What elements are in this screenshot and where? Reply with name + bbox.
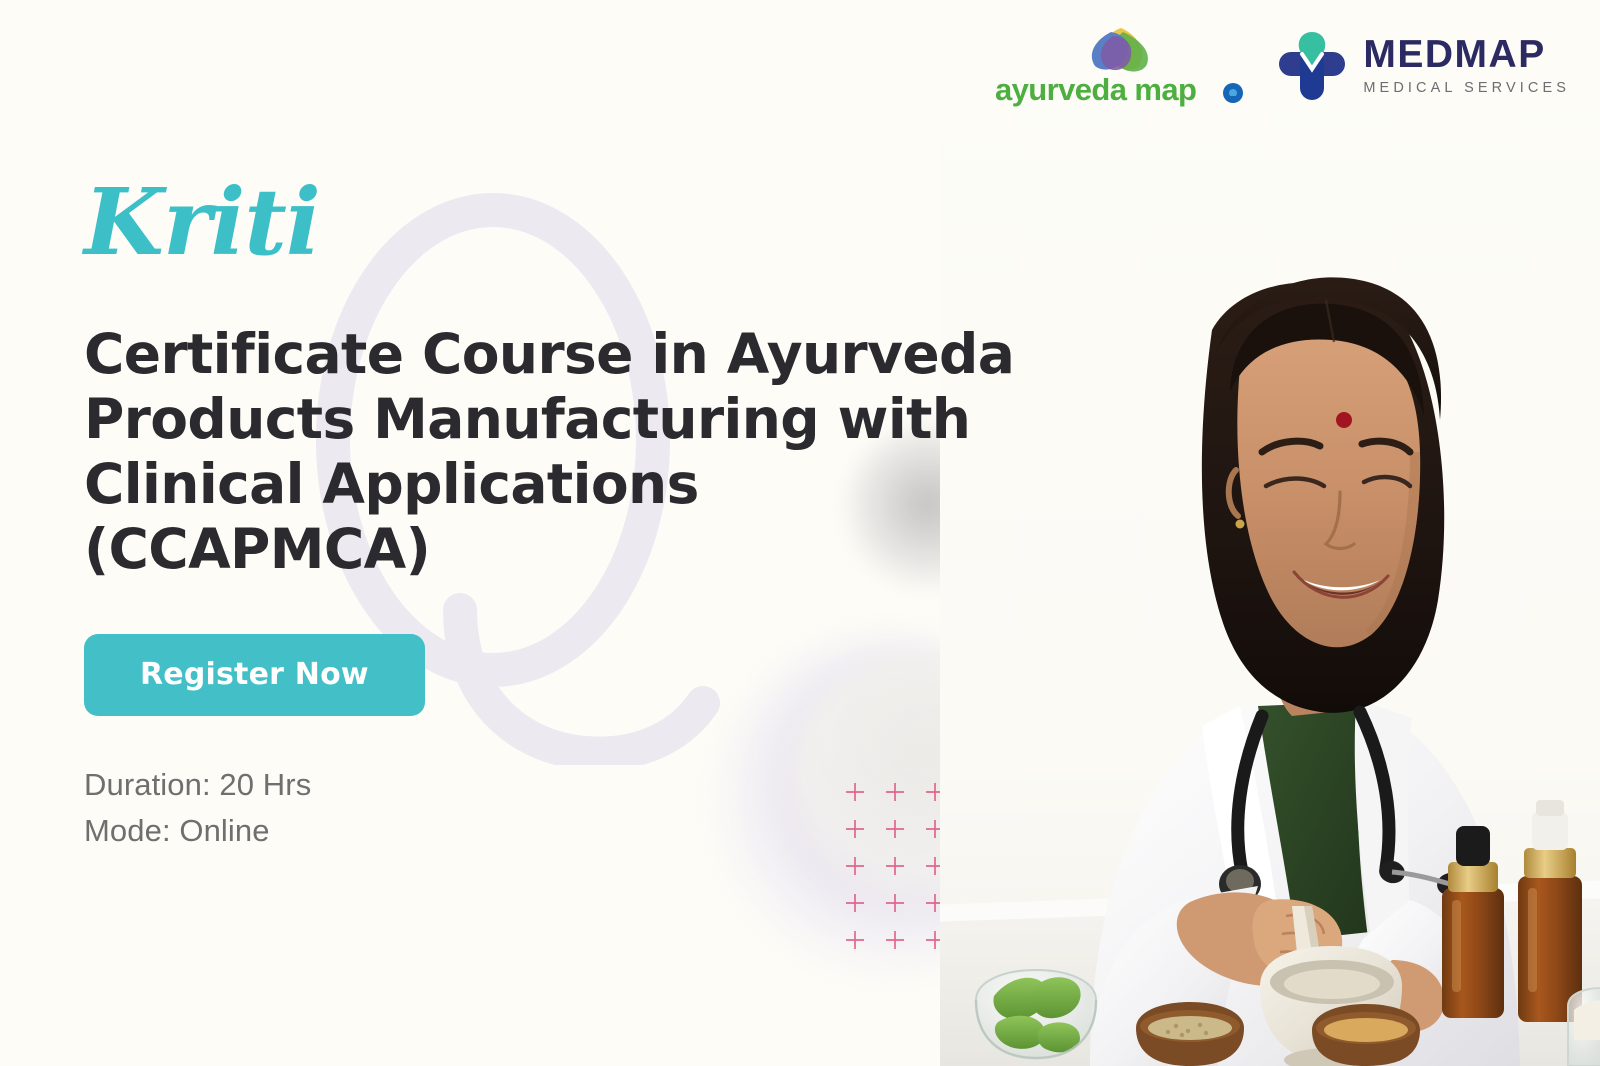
page-title: Certificate Course in Ayurveda Products … [84, 322, 1029, 582]
register-now-button[interactable]: Register Now [84, 634, 425, 716]
ayurveda-map-logo[interactable]: ayurveda map [995, 22, 1249, 108]
promo-banner: ayurveda map MEDMAP MEDICAL SERVICES Kri… [0, 0, 1600, 1066]
medmap-subtitle: MEDICAL SERVICES [1363, 81, 1570, 96]
ayurveda-map-wordmark: ayurveda map [995, 72, 1249, 108]
main-content: Kriti Certificate Course in Ayurveda Pro… [84, 176, 1044, 855]
brand-name: Kriti [84, 176, 1044, 268]
course-duration: Duration: 20 Hrs [84, 762, 1044, 809]
medmap-title: MEDMAP [1363, 35, 1570, 74]
lotus-icon [995, 22, 1249, 74]
medical-cross-icon [1275, 28, 1349, 102]
logo-row: ayurveda map MEDMAP MEDICAL SERVICES [995, 22, 1570, 108]
svg-text:ayurveda map: ayurveda map [995, 72, 1196, 107]
course-mode: Mode: Online [84, 808, 1044, 855]
course-meta: Duration: 20 Hrs Mode: Online [84, 762, 1044, 855]
medmap-logo[interactable]: MEDMAP MEDICAL SERVICES [1275, 28, 1570, 102]
